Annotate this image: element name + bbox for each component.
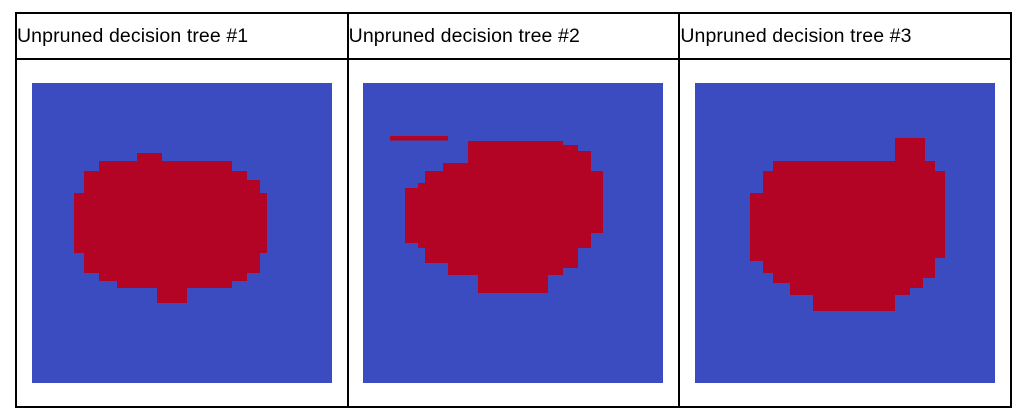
decision-boundary-svg-1 <box>32 83 332 383</box>
decision-boundary-plot-2 <box>363 83 663 383</box>
class-1-region-1 <box>74 153 267 303</box>
decision-boundary-plot-1 <box>32 83 332 383</box>
decision-tree-comparison-table: Unpruned decision tree #1 Unpruned decis… <box>15 12 1012 408</box>
plot-cell-tree-3 <box>679 59 1011 407</box>
class-1-sliver-2 <box>390 136 448 141</box>
plot-cell-tree-2 <box>348 59 680 407</box>
decision-boundary-svg-2 <box>363 83 663 383</box>
plot-cell-tree-1 <box>16 59 348 407</box>
table-header-row: Unpruned decision tree #1 Unpruned decis… <box>16 13 1011 59</box>
column-header-tree-1: Unpruned decision tree #1 <box>16 13 348 59</box>
column-header-tree-2: Unpruned decision tree #2 <box>348 13 680 59</box>
decision-boundary-svg-3 <box>695 83 995 383</box>
column-header-tree-3: Unpruned decision tree #3 <box>679 13 1011 59</box>
figure-root: Unpruned decision tree #1 Unpruned decis… <box>0 0 1028 418</box>
decision-boundary-plot-3 <box>695 83 995 383</box>
table-plot-row <box>16 59 1011 407</box>
